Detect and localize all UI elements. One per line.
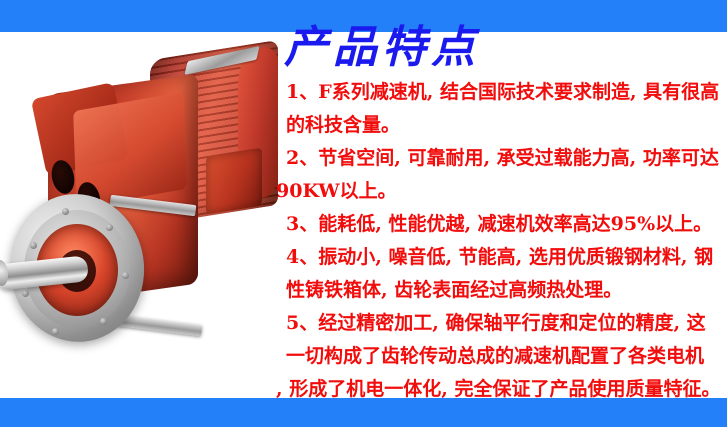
product-feature-banner: 产品特点 1、F系列减速机, 结合国际技术要求制造, 具有很高 的科技含量。 2… (0, 0, 727, 427)
feature-text-column: 产品特点 1、F系列减速机, 结合国际技术要求制造, 具有很高 的科技含量。 2… (276, 22, 727, 406)
list-item: 1、F系列减速机, 结合国际技术要求制造, 具有很高 (276, 76, 727, 109)
flange-bolt (52, 328, 59, 335)
list-item: 3、能耗低, 性能优越, 减速机效率高达95%以上。 (276, 208, 727, 241)
list-item: 的科技含量。 (276, 109, 727, 142)
list-item: 4、振动小, 噪音低, 节能高, 选用优质锻钢材料, 钢 (276, 241, 727, 274)
page-title: 产品特点 (284, 22, 727, 74)
list-item: 一切构成了齿轮传动总成的减速机配置了各类电机 (276, 340, 727, 373)
flange-bolt (122, 272, 129, 279)
flange-bolt (62, 208, 69, 215)
list-item: 性铸铁箱体, 齿轮表面经过高频热处理。 (276, 274, 727, 307)
list-item: , 形成了机电一体化, 完全保证了产品使用质量特征。 (276, 373, 727, 406)
feature-list: 1、F系列减速机, 结合国际技术要求制造, 具有很高 的科技含量。 2、节省空间… (276, 76, 727, 406)
list-item: 2、节省空间, 可靠耐用, 承受过载能力高, 功率可达 (276, 142, 727, 175)
mounting-bracket-lower (116, 315, 203, 336)
flange-bolt (106, 224, 113, 231)
flange-bolt (100, 318, 107, 325)
product-photo (0, 32, 278, 398)
list-item: 90KW以上。 (276, 175, 727, 208)
list-item: 5、经过精密加工, 确保轴平行度和定位的精度, 这 (276, 307, 727, 340)
terminal-box (206, 148, 262, 215)
flange-bolt (30, 242, 37, 249)
gear-motor-illustration (0, 32, 278, 398)
flange-bolt (22, 290, 29, 297)
